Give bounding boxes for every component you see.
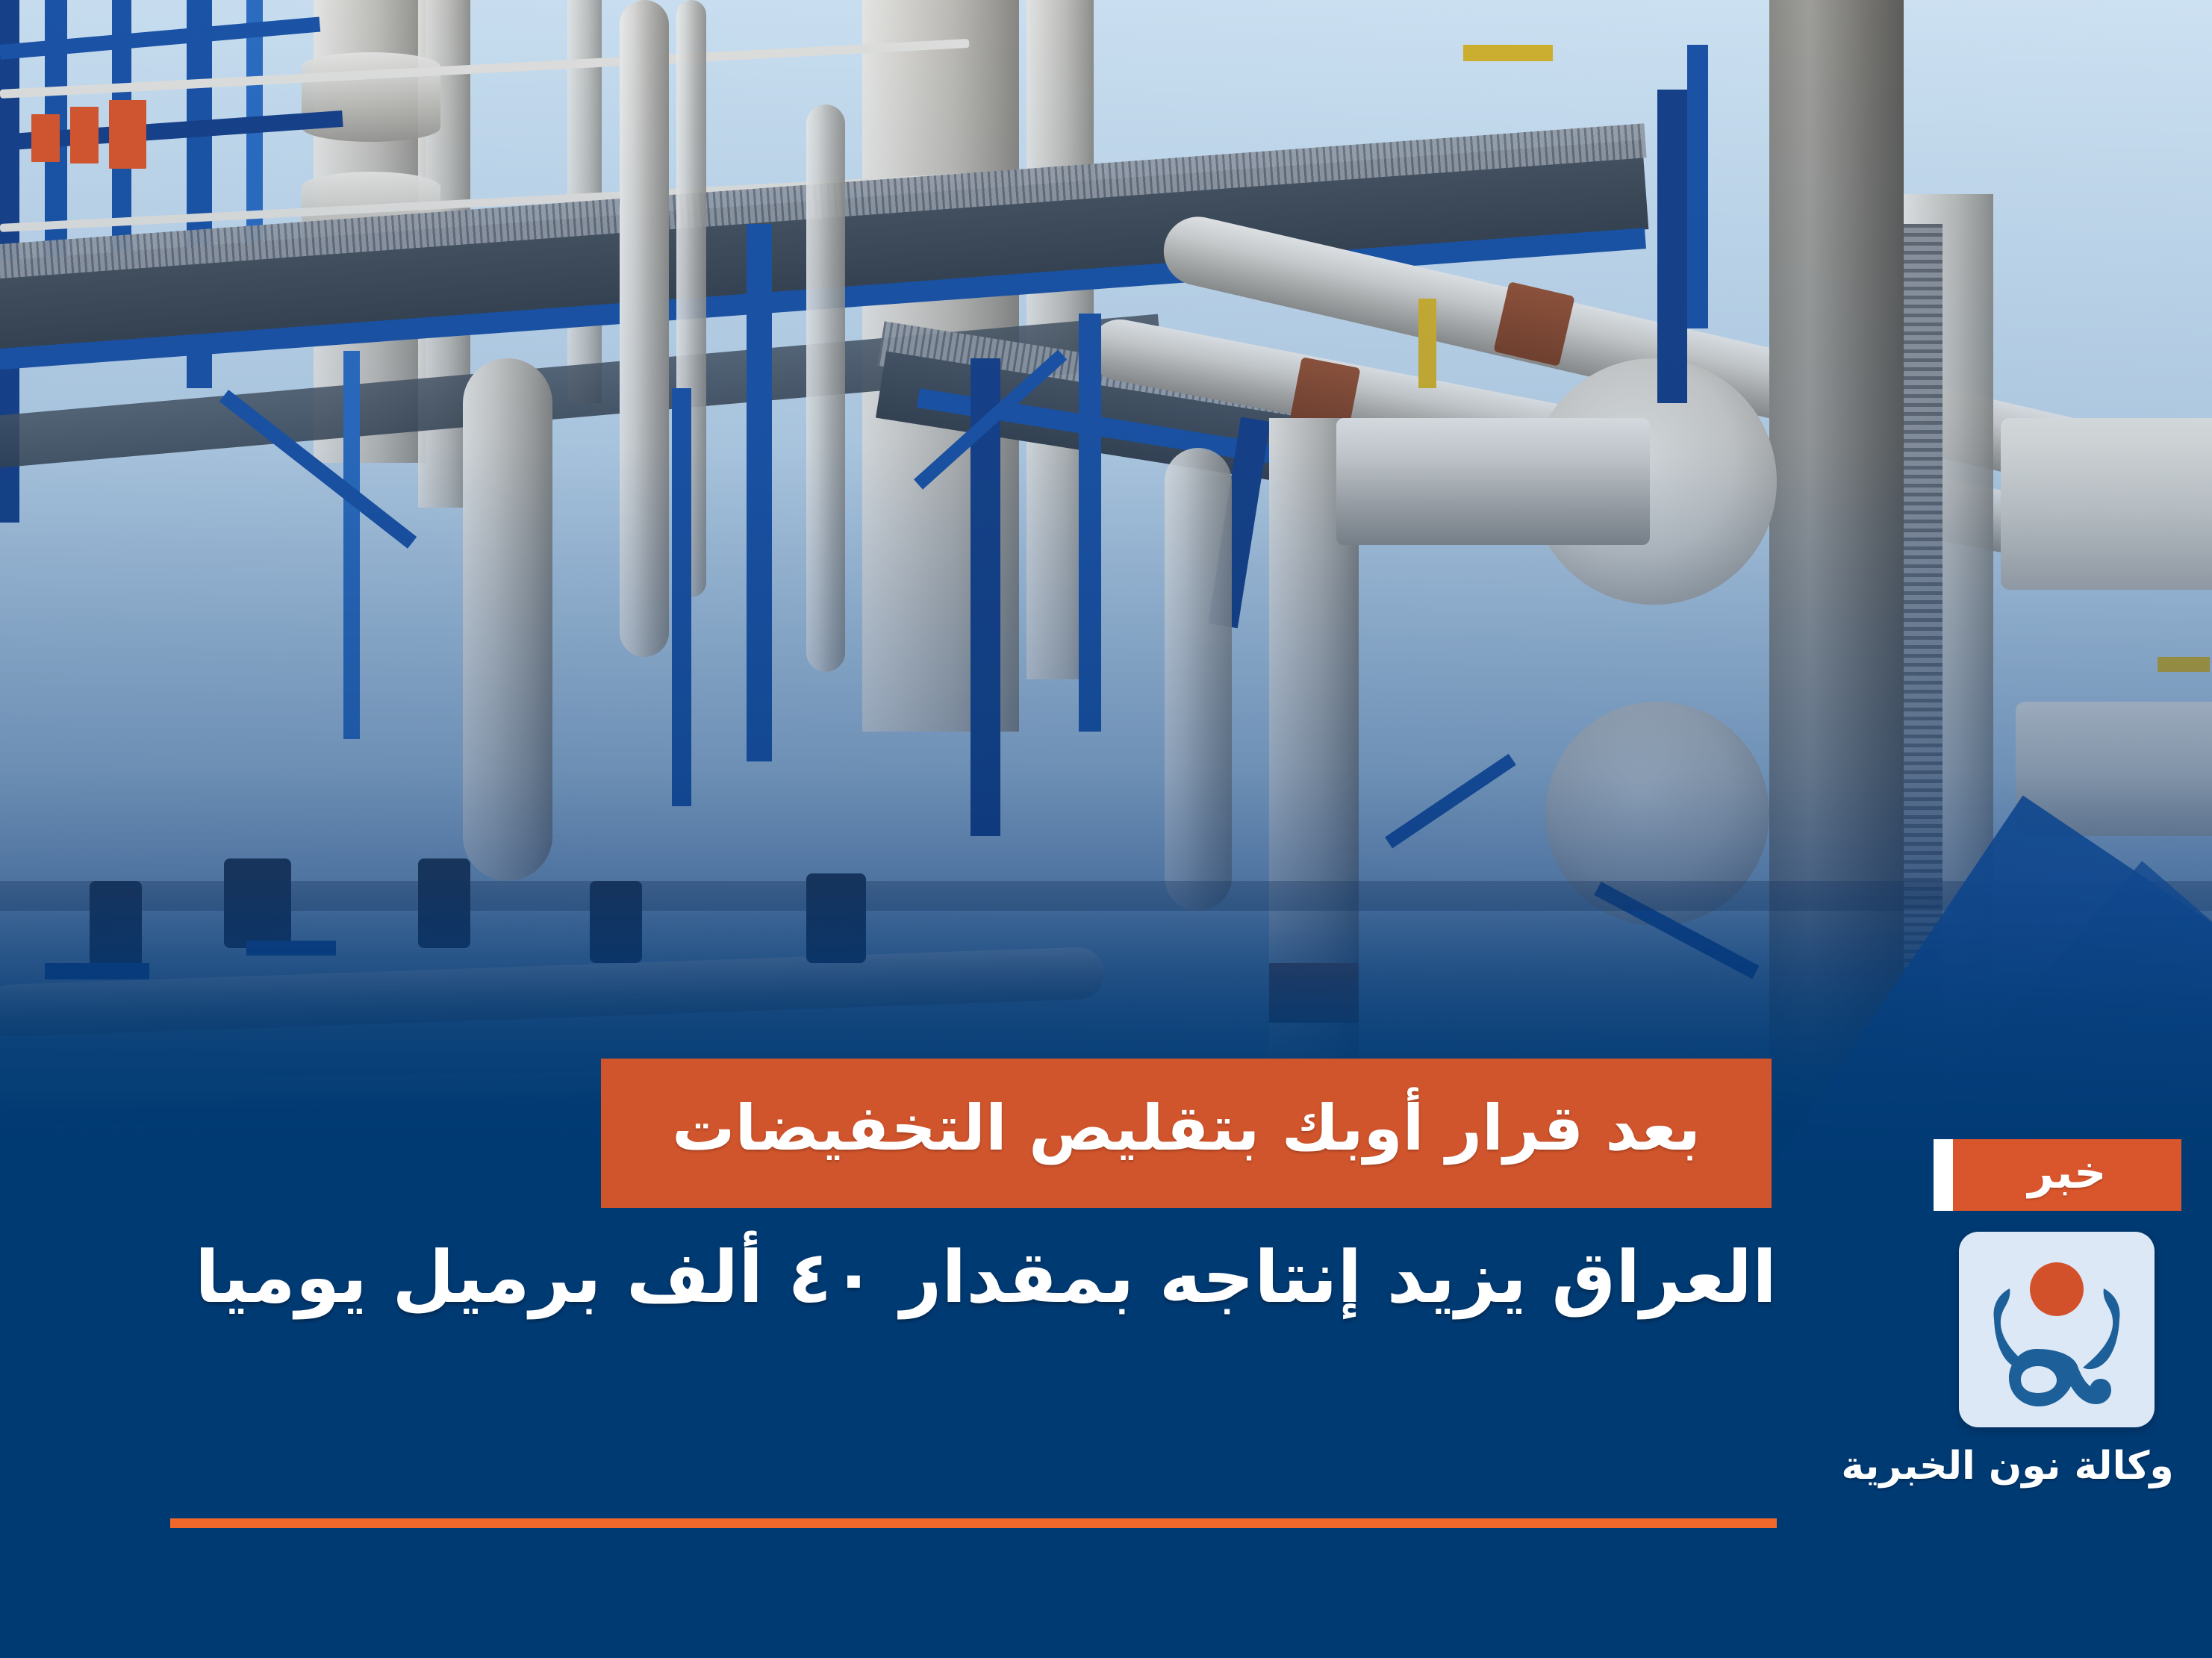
news-badge: خبر [1934, 1139, 2181, 1211]
noon-agency-logo [1959, 1232, 2155, 1427]
kicker-banner: بعد قرار أوبك بتقليص التخفيضات [601, 1059, 1772, 1208]
three-bars-watermark-icon [31, 100, 146, 169]
kicker-text: بعد قرار أوبك بتقليص التخفيضات [672, 1097, 1701, 1159]
agency-name: وكالة نون الخبرية [1831, 1447, 2184, 1486]
headline: العراق يزيد إنتاجه بمقدار ٤٠ ألف برميل ي… [127, 1230, 1777, 1325]
news-badge-label: خبر [2028, 1150, 2106, 1200]
headline-underline-rule [170, 1518, 1777, 1528]
news-badge-white-tab [1934, 1139, 1953, 1211]
news-card: بعد قرار أوبك بتقليص التخفيضات العراق يز… [0, 0, 2212, 1658]
brand-block: خبر وكالة نون الخبرية [1831, 1139, 2181, 1486]
news-badge-fill: خبر [1953, 1139, 2181, 1211]
